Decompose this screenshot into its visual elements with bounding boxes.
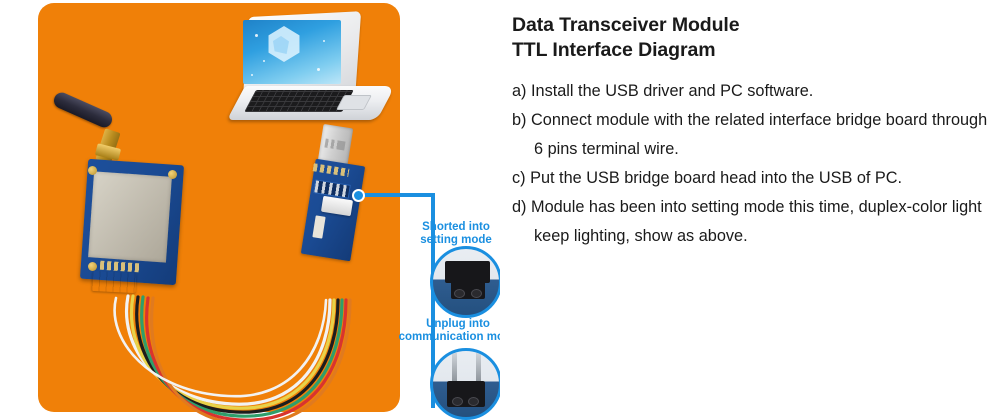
title-line-2: TTL Interface Diagram <box>512 38 988 63</box>
jumper-cap-leg <box>480 261 490 283</box>
instruction-step-c: c) Put the USB bridge board head into th… <box>512 164 988 193</box>
jumper-socket-hole <box>471 289 482 298</box>
instruction-step-b: b) Connect module with the related inter… <box>512 106 988 164</box>
jumper-cap-leg <box>445 261 455 283</box>
jumper-shorted-photo <box>430 246 500 318</box>
page-title: Data Transceiver Module TTL Interface Di… <box>512 0 988 63</box>
jumper-unplugged-photo <box>430 348 500 420</box>
callout-label-shorted: Shorted into setting mode <box>400 221 500 246</box>
instruction-steps: a) Install the USB driver and PC softwar… <box>512 63 988 251</box>
page-root: Shorted into setting mode Unplug into co… <box>0 0 996 420</box>
callout-leader-line <box>0 0 500 420</box>
jumper-socket-hole <box>454 289 465 298</box>
instructions-column: Data Transceiver Module TTL Interface Di… <box>512 0 988 420</box>
instruction-step-a: a) Install the USB driver and PC softwar… <box>512 77 988 106</box>
jumper-socket-hole <box>468 397 479 406</box>
illustration-panel: Shorted into setting mode Unplug into co… <box>0 0 500 420</box>
header-pin <box>452 353 457 383</box>
callout-anchor-dot <box>352 189 365 202</box>
jumper-socket-hole <box>452 397 463 406</box>
jumper-callout: Shorted into setting mode Unplug into co… <box>0 0 500 420</box>
instruction-step-d: d) Module has been into setting mode thi… <box>512 193 988 251</box>
callout-label-unplug: Unplug into communication mode <box>388 318 500 343</box>
title-line-1: Data Transceiver Module <box>512 13 988 38</box>
header-pin <box>476 353 481 383</box>
